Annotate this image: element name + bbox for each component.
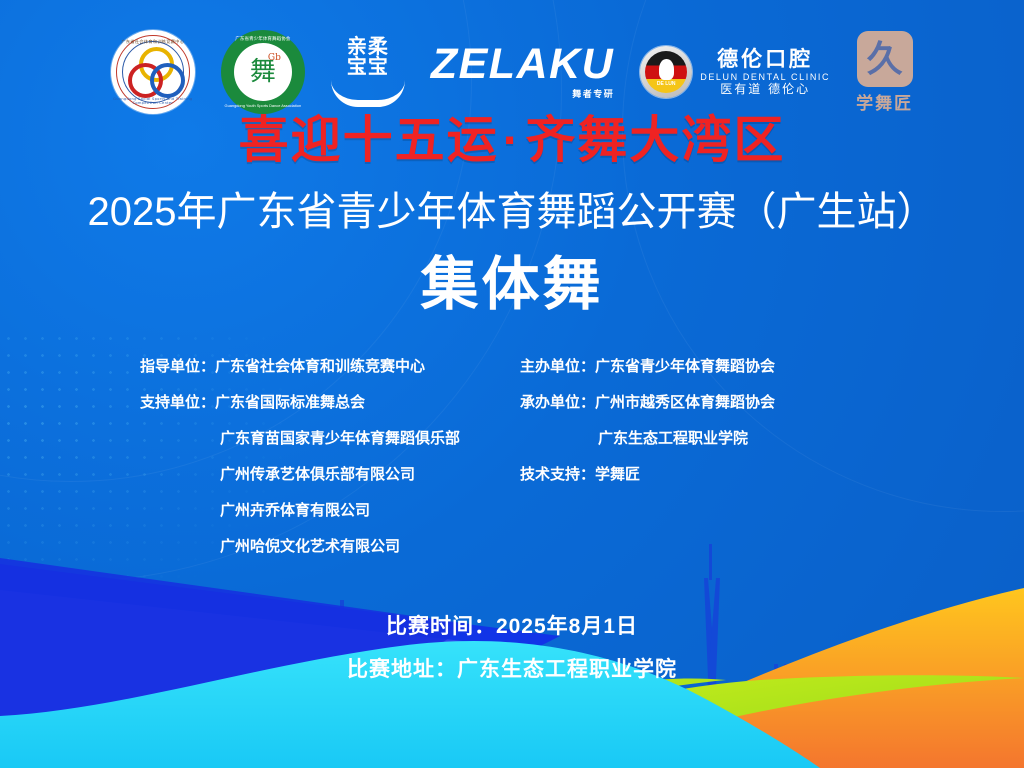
xuewujiang-mark-icon: 久 (857, 31, 913, 87)
credit-label: 支持单位： (140, 395, 215, 410)
red-headline-part2: 齐舞大湾区 (525, 112, 785, 168)
credit-line: 主办单位：广东省青少年体育舞蹈协会 (520, 348, 900, 384)
credit-label: 技术支持： (520, 467, 595, 482)
gb-mark-icon: Gb (268, 53, 281, 63)
credit-line: 指导单位：广东省社会体育和训练竞赛中心 (140, 348, 520, 384)
german-flag-icon: DE LUN (645, 51, 687, 93)
event-time-value: 2025年8月1日 (496, 615, 638, 638)
logo-xuewujiang: 久 学舞匠 (856, 26, 913, 118)
green-seal-inner: 舞 Gb (234, 43, 292, 101)
credit-label: 承办单位： (520, 395, 595, 410)
credit-value: 广东生态工程职业学院 (598, 431, 748, 446)
event-subtitle: 2025年广东省青少年体育舞蹈公开赛（广生站） (0, 188, 1024, 236)
category-title: 集体舞 (0, 252, 1024, 319)
ring-blue-icon (150, 63, 185, 98)
delun-badge-text: DE LUN (645, 81, 687, 87)
zelaku-wordmark: ZELAKU (431, 44, 614, 85)
credit-value: 广州市越秀区体育舞蹈协会 (595, 395, 775, 410)
credit-line: 广东生态工程职业学院 (520, 420, 900, 456)
event-venue-label: 比赛地址： (347, 658, 457, 681)
credit-value: 广东省青少年体育舞蹈协会 (595, 359, 775, 374)
credit-value: 广州传承艺体俱乐部有限公司 (220, 467, 415, 482)
medallion-bottom-text: Guangdong Social Sports and Training Com… (111, 97, 195, 105)
logo-delun-dental-clinic: DE LUN 德伦口腔 DELUN DENTAL CLINIC 医有道 德伦心 (640, 26, 830, 118)
tooth-icon (659, 59, 674, 80)
delun-badge-icon: DE LUN (640, 46, 692, 98)
event-venue-line: 比赛地址：广东生态工程职业学院 (0, 659, 1024, 680)
red-headline-separator: · (499, 112, 526, 168)
xuewujiang-name: 学舞匠 (856, 89, 913, 114)
medallion-icon: 广东省社会体育和训练竞赛中心 Guangdong Social Sports a… (111, 30, 195, 114)
delun-slogan: 医有道 德伦心 (700, 83, 830, 97)
logo-guangdong-social-sports-center: 广东省社会体育和训练竞赛中心 Guangdong Social Sports a… (111, 26, 195, 118)
credit-line: 支持单位：广东省国际标准舞总会 (140, 384, 520, 420)
credit-line: 承办单位：广州市越秀区体育舞蹈协会 (520, 384, 900, 420)
qinrou-line2: 宝宝 (331, 57, 405, 77)
green-seal-bottom-text: Guangdong Youth Sports Dance Association (221, 103, 305, 108)
credit-line: 广州卉乔体育有限公司 (140, 492, 520, 528)
red-headline: 喜迎十五运·齐舞大湾区 (0, 113, 1024, 168)
credit-value: 学舞匠 (595, 467, 640, 482)
qinrou-line1: 亲柔 (331, 37, 405, 57)
logo-qinrou-baobao: 亲柔 宝宝 (331, 26, 405, 118)
sponsor-logo-strip: 广东省社会体育和训练竞赛中心 Guangdong Social Sports a… (0, 24, 1024, 120)
medallion-top-text: 广东省社会体育和训练竞赛中心 (111, 39, 195, 45)
red-headline-part1: 喜迎十五运 (239, 112, 499, 168)
credit-value: 广东省社会体育和训练竞赛中心 (215, 359, 425, 374)
green-seal-icon: 广东省青少年体育舞蹈协会 舞 Gb Guangdong Youth Sports… (221, 30, 305, 114)
dancer-glyph-icon: 久 (867, 41, 903, 77)
event-poster: 广东省社会体育和训练竞赛中心 Guangdong Social Sports a… (0, 0, 1024, 768)
credit-value: 广东育苗国家青少年体育舞蹈俱乐部 (220, 431, 460, 446)
green-seal-top-text: 广东省青少年体育舞蹈协会 (221, 36, 305, 42)
delun-name-en: DELUN DENTAL CLINIC (700, 72, 830, 82)
logo-guangdong-youth-sports-dance-association: 广东省青少年体育舞蹈协会 舞 Gb Guangdong Youth Sports… (221, 26, 305, 118)
event-time-line: 比赛时间：2025年8月1日 (0, 616, 1024, 637)
zelaku-tagline: 舞者专研 (431, 87, 614, 100)
event-time-label: 比赛时间： (386, 615, 496, 638)
credit-line: 广东育苗国家青少年体育舞蹈俱乐部 (140, 420, 520, 456)
credit-line: 广州传承艺体俱乐部有限公司 (140, 456, 520, 492)
credit-line: 技术支持：学舞匠 (520, 456, 900, 492)
smile-curve-icon (331, 80, 405, 107)
delun-name-cn: 德伦口腔 (700, 47, 830, 71)
credit-label: 指导单位： (140, 359, 215, 374)
credit-value: 广东省国际标准舞总会 (215, 395, 365, 410)
event-info-block: 比赛时间：2025年8月1日 比赛地址：广东生态工程职业学院 (0, 616, 1024, 702)
logo-zelaku: ZELAKU 舞者专研 (431, 26, 614, 118)
credit-value: 广州卉乔体育有限公司 (220, 503, 370, 518)
event-venue-value: 广东生态工程职业学院 (457, 658, 677, 681)
credit-label: 主办单位： (520, 359, 595, 374)
